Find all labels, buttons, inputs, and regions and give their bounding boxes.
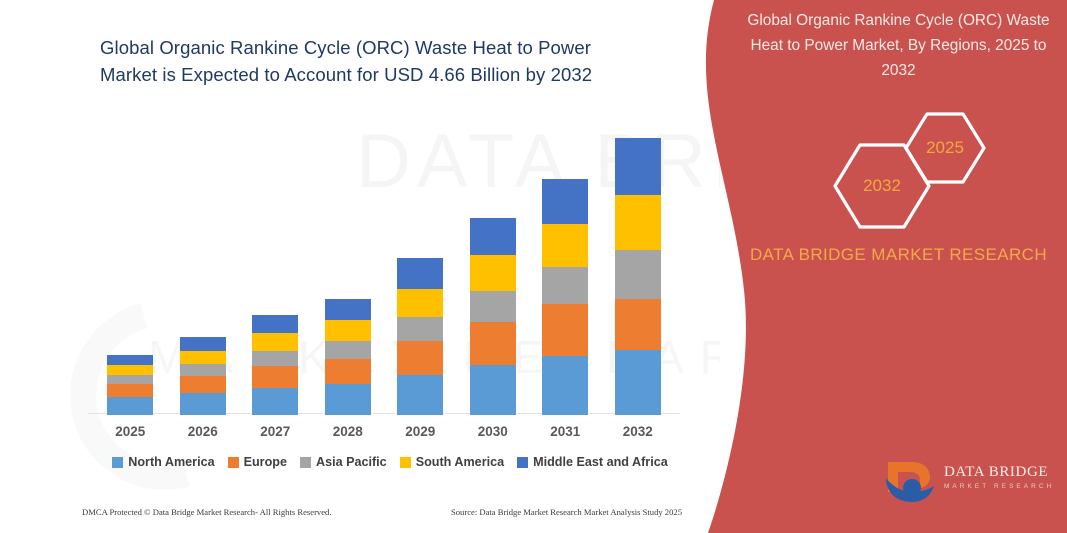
bar-segment <box>615 350 661 415</box>
legend-label: Europe <box>244 455 287 469</box>
legend-item[interactable]: Europe <box>228 455 287 469</box>
brand-panel-title: Global Organic Rankine Cycle (ORC) Waste… <box>746 8 1051 83</box>
bar-segment <box>542 224 588 267</box>
legend-swatch-icon <box>228 457 239 468</box>
legend-label: South America <box>416 455 504 469</box>
hexagon-start-year-label: 2025 <box>926 138 964 158</box>
legend-swatch-icon <box>112 457 123 468</box>
brand-logo-subtitle: MARKET RESEARCH <box>944 483 1054 490</box>
bar-segment <box>615 250 661 299</box>
legend-label: North America <box>128 455 214 469</box>
chart-plot-area <box>94 110 674 415</box>
legend-item[interactable]: Asia Pacific <box>300 455 387 469</box>
bar-group <box>107 355 153 415</box>
x-axis-label: 2031 <box>530 424 600 439</box>
x-axis-label: 2025 <box>95 424 165 439</box>
bar-segment <box>542 304 588 356</box>
footer-source: Source: Data Bridge Market Research Mark… <box>451 507 682 517</box>
x-axis-label: 2027 <box>240 424 310 439</box>
bar-segment <box>180 376 226 393</box>
brand-logo: DATA BRIDGE MARKET RESEARCH <box>882 458 1052 510</box>
legend-item[interactable]: Middle East and Africa <box>517 455 668 469</box>
chart-legend: North AmericaEuropeAsia PacificSouth Ame… <box>100 455 680 469</box>
bar-segment <box>615 195 661 250</box>
bar-segment <box>470 291 516 322</box>
brand-panel: Global Organic Rankine Cycle (ORC) Waste… <box>660 0 1067 533</box>
brand-logo-name: DATA BRIDGE <box>944 464 1054 481</box>
bar-segment <box>180 337 226 351</box>
bar-segment <box>325 299 371 320</box>
hexagon-end-year-label: 2032 <box>863 176 901 196</box>
bar-group <box>252 315 298 415</box>
legend-item[interactable]: South America <box>400 455 504 469</box>
bar-segment <box>615 138 661 195</box>
bar-segment <box>397 341 443 375</box>
chart-panel: DATA BRIDGE MARKET RESEARCH Global Organ… <box>0 0 720 533</box>
bar-segment <box>470 218 516 255</box>
bar-segment <box>252 366 298 388</box>
bar-segment <box>107 355 153 365</box>
data-bridge-logo-icon <box>882 458 942 506</box>
brand-logo-text: DATA BRIDGE MARKET RESEARCH <box>944 464 1054 490</box>
bar-group <box>470 218 516 415</box>
bar-segment <box>397 317 443 341</box>
bar-group <box>180 337 226 415</box>
x-axis-label: 2030 <box>458 424 528 439</box>
bar-segment <box>542 267 588 304</box>
bar-segment <box>325 359 371 384</box>
x-axis-label: 2026 <box>168 424 238 439</box>
bar-group <box>542 179 588 415</box>
bar-segment <box>252 351 298 366</box>
footer: DMCA Protected © Data Bridge Market Rese… <box>82 507 682 517</box>
legend-swatch-icon <box>400 457 411 468</box>
bar-segment <box>397 289 443 317</box>
brand-name: DATA BRIDGE MARKET RESEARCH <box>746 240 1051 269</box>
bar-group <box>615 138 661 415</box>
legend-item[interactable]: North America <box>112 455 214 469</box>
bar-segment <box>397 375 443 415</box>
bar-segment <box>470 365 516 415</box>
chart-title: Global Organic Rankine Cycle (ORC) Waste… <box>100 34 640 88</box>
bar-segment <box>325 341 371 359</box>
bar-segment <box>470 322 516 365</box>
legend-swatch-icon <box>300 457 311 468</box>
footer-copyright: DMCA Protected © Data Bridge Market Rese… <box>82 507 332 517</box>
bar-segment <box>107 384 153 397</box>
bar-segment <box>180 351 226 364</box>
bar-group <box>397 258 443 415</box>
hexagon-badge-start-year: 2025 <box>902 110 988 186</box>
legend-label: Middle East and Africa <box>533 455 668 469</box>
bar-segment <box>542 179 588 224</box>
legend-swatch-icon <box>517 457 528 468</box>
bar-segment <box>180 393 226 415</box>
bar-segment <box>107 397 153 415</box>
bar-segment <box>107 375 153 384</box>
legend-label: Asia Pacific <box>316 455 387 469</box>
bar-segment <box>252 388 298 415</box>
bar-segment <box>252 315 298 333</box>
bar-segment <box>325 320 371 341</box>
bar-group <box>325 299 371 415</box>
x-axis-label: 2028 <box>313 424 383 439</box>
x-axis-label: 2029 <box>385 424 455 439</box>
bar-segment <box>180 364 226 376</box>
bar-segment <box>252 333 298 351</box>
bar-segment <box>542 356 588 415</box>
bar-segment <box>615 299 661 350</box>
bar-segment <box>470 255 516 291</box>
bar-segment <box>107 365 153 375</box>
bar-segment <box>397 258 443 289</box>
x-axis-labels: 20252026202720282029203020312032 <box>94 424 674 444</box>
bar-segment <box>325 384 371 415</box>
